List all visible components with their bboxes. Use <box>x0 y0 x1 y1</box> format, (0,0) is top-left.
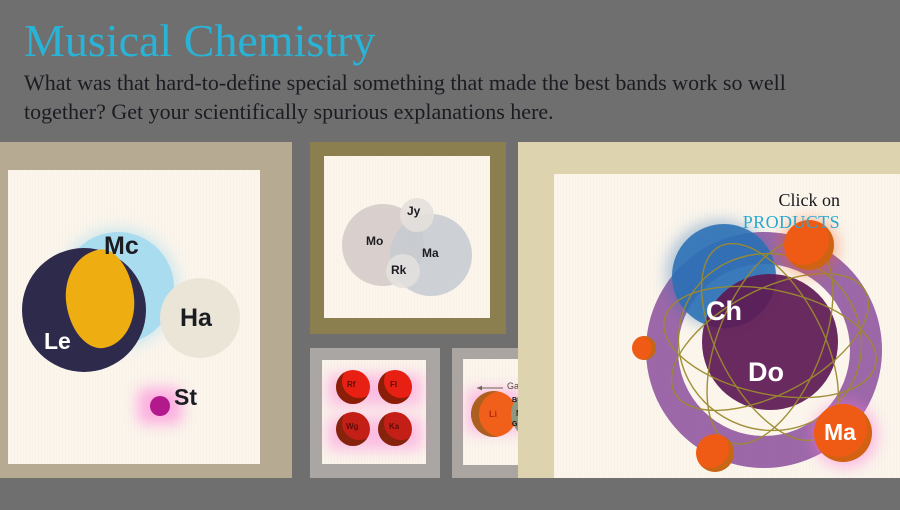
callout-line-2: PRODUCTS <box>743 211 840 233</box>
electron-2[interactable] <box>632 336 656 360</box>
callout-line-1: Click on <box>743 190 840 211</box>
electron-3[interactable] <box>696 434 734 472</box>
bubble-rk[interactable] <box>386 254 420 288</box>
page-header: Musical Chemistry What was that hard-to-… <box>0 0 900 142</box>
bubble-rf[interactable] <box>336 370 370 404</box>
bubble-jy[interactable] <box>400 198 434 232</box>
callout-click-on-products[interactable]: Click on PRODUCTS <box>743 190 840 233</box>
panel-grey-quartet[interactable]: Mo Jy Ma Rk <box>310 142 506 334</box>
bubble-ha[interactable] <box>160 278 240 358</box>
bubble-ma[interactable] <box>814 404 872 462</box>
panel-beatles[interactable]: Mc Le Ha St <box>0 142 292 478</box>
panel-grey-quartet-canvas: Mo Jy Ma Rk <box>324 156 490 318</box>
bubble-ka[interactable] <box>378 412 412 446</box>
bubble-st[interactable] <box>150 396 170 416</box>
panel-red-quartet[interactable]: Rf Fl Wg Ka <box>310 348 440 478</box>
panel-atom-canvas: Click on PRODUCTS Ch <box>554 174 900 478</box>
bubble-fl[interactable] <box>378 370 412 404</box>
page-subtitle: What was that hard-to-define special som… <box>24 68 824 126</box>
panel-red-quartet-canvas: Rf Fl Wg Ka <box>322 360 426 464</box>
bubble-wg[interactable] <box>336 412 370 446</box>
panel-atom[interactable]: Click on PRODUCTS Ch <box>518 142 900 478</box>
panel-beatles-canvas: Mc Le Ha St <box>8 170 260 464</box>
page-title: Musical Chemistry <box>24 18 375 64</box>
